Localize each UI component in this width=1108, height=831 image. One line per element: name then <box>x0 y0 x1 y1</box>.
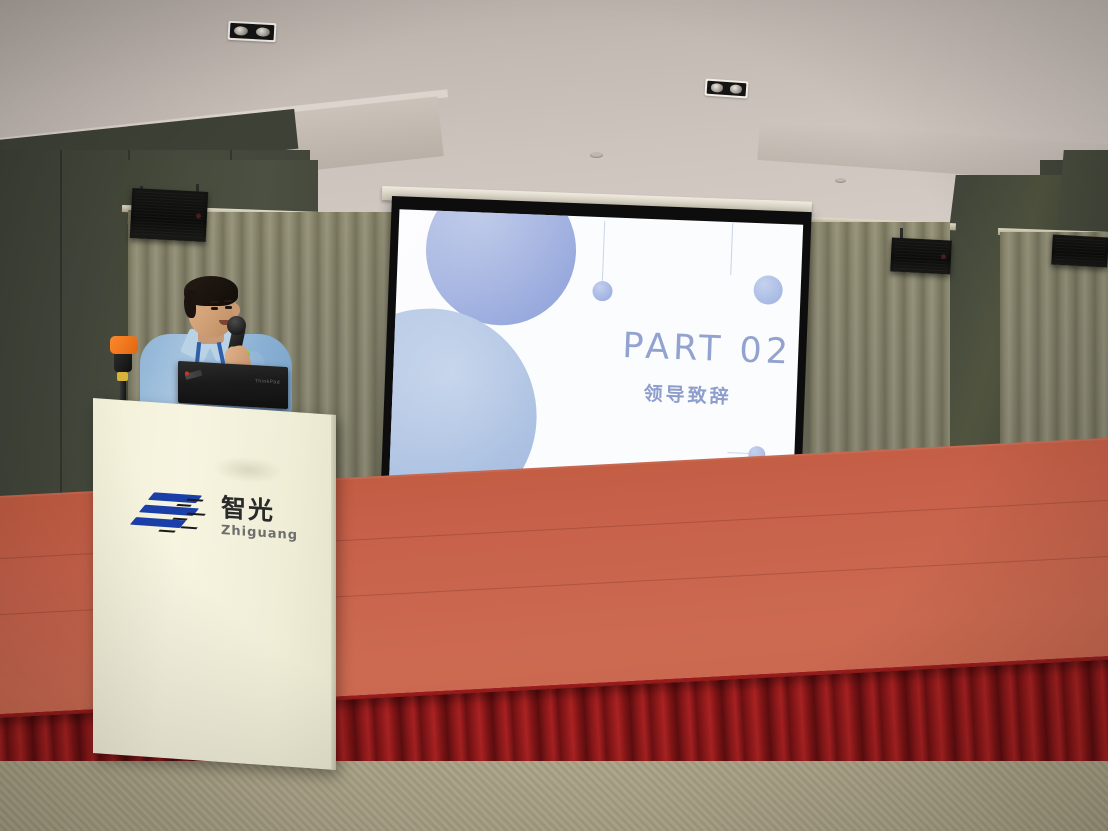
podium-brand-en: Zhiguang <box>221 522 298 542</box>
ceiling-spotlight-right <box>704 79 748 99</box>
spotlight-housing <box>230 23 275 40</box>
slide-circle-small-top-right <box>753 275 783 305</box>
photo-scene: PART 02 领导致辞 <box>0 0 1108 831</box>
slide-subtitle: 领导致辞 <box>643 379 732 409</box>
mic-stand-clamp <box>110 336 138 354</box>
person-eye <box>211 307 218 310</box>
podium-brand-text-block: 智光 Zhiguang <box>221 494 298 542</box>
spotlight-lamp <box>256 27 271 37</box>
slide-circle-small-hanging <box>592 281 613 302</box>
spotlight-lamp <box>710 83 723 92</box>
smoke-detector <box>835 178 846 183</box>
smoke-detector <box>590 152 603 158</box>
ceiling-spotlight-left <box>228 21 277 42</box>
spotlight-housing <box>707 81 747 97</box>
person-ear <box>232 304 240 316</box>
slide-connector-line <box>730 223 733 275</box>
projection-screen-canvas: PART 02 领导致辞 <box>389 209 803 496</box>
podium-brand-cn: 智光 <box>221 494 298 524</box>
speaker-grille <box>133 191 205 239</box>
laptop-brand-text: ThinkPad <box>255 378 280 385</box>
ceiling-speaker-mid <box>890 237 952 274</box>
mark-bar <box>148 492 202 503</box>
person-eyebrow <box>224 300 233 302</box>
person-hair-side <box>184 290 196 318</box>
podium-brand-logo: 智光 Zhiguang <box>129 479 329 555</box>
spotlight-lamp <box>730 85 743 94</box>
laptop: ThinkPad <box>178 361 288 409</box>
ceiling-speaker-left <box>130 188 209 242</box>
speaker-grille <box>1054 238 1105 265</box>
mark-tick <box>158 530 176 533</box>
floor-carpet <box>0 761 1108 831</box>
person-eyebrow <box>210 301 219 303</box>
slide-part-label: PART 02 <box>622 326 793 372</box>
zhiguang-mark-icon <box>129 487 211 539</box>
spotlight-lamp <box>234 26 249 36</box>
mark-tick <box>180 526 198 529</box>
podium: 智光 Zhiguang <box>93 398 336 770</box>
slide-connector-line <box>602 221 605 283</box>
mic-stand-knob <box>117 372 128 381</box>
ceiling-speaker-right <box>1051 235 1108 268</box>
person-eye <box>225 306 232 309</box>
podium-surface-mark <box>213 454 283 485</box>
